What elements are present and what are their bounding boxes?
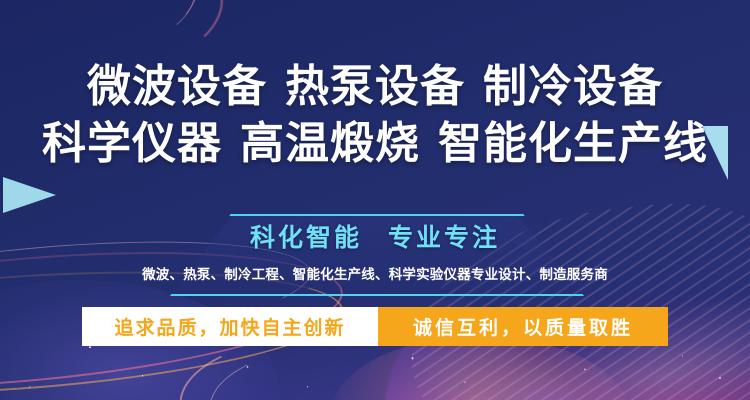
headline-line-1: 微波设备热泵设备制冷设备: [0, 58, 750, 115]
headline-item-5: 高温煅烧: [240, 118, 420, 169]
headline-item-6: 智能化生产线: [438, 118, 708, 169]
slogan: 科化智能专业专注: [0, 218, 750, 254]
headline-item-3: 制冷设备: [483, 61, 663, 112]
headline-item-2: 热泵设备: [285, 61, 465, 112]
promo-banner: 微波设备热泵设备制冷设备 科学仪器高温煅烧智能化生产线 科化智能专业专注 微波、…: [0, 0, 750, 400]
pill-orange[interactable]: 诚信互利，以质量取胜: [378, 307, 668, 346]
slogan-pill-bar: 追求品质，加快自主创新 诚信互利，以质量取胜: [82, 307, 668, 346]
pill-white-label: 追求品质，加快自主创新: [114, 313, 345, 340]
headline-item-1: 微波设备: [87, 61, 267, 112]
headline-item-4: 科学仪器: [42, 118, 222, 169]
slogan-right: 专业专注: [388, 223, 500, 252]
headline-line-2: 科学仪器高温煅烧智能化生产线: [0, 115, 750, 172]
slogan-left: 科化智能: [250, 223, 362, 252]
headline: 微波设备热泵设备制冷设备 科学仪器高温煅烧智能化生产线: [0, 58, 750, 172]
pill-orange-label: 诚信互利，以质量取胜: [413, 313, 633, 340]
pill-white[interactable]: 追求品质，加快自主创新: [82, 307, 378, 346]
subline: 微波、热泵、制冷工程、智能化生产线、科学实验仪器专业设计、制造服务商: [0, 263, 750, 283]
arrow-triangle-left-icon: [3, 177, 56, 213]
